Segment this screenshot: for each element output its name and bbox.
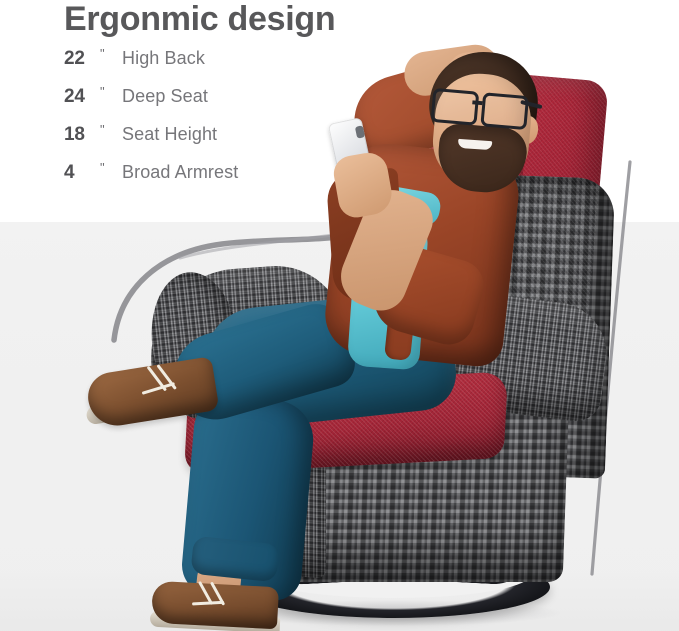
- spec-label: High Back: [122, 48, 205, 69]
- inch-symbol: ": [100, 84, 122, 99]
- spec-row-seat-height: 18 " Seat Height: [64, 124, 394, 162]
- spec-row-high-back: 22 " High Back: [64, 48, 394, 86]
- product-infographic-image: Ergonmic design 22 " High Back 24 " Deep…: [0, 0, 679, 631]
- spec-value: 24: [64, 86, 100, 108]
- spec-list: 22 " High Back 24 " Deep Seat 18 " Seat …: [64, 48, 394, 200]
- spec-value: 18: [64, 124, 100, 146]
- spec-label: Seat Height: [122, 124, 217, 145]
- eyeglass-lens-right: [480, 92, 529, 130]
- spec-row-deep-seat: 24 " Deep Seat: [64, 86, 394, 124]
- page-title: Ergonmic design: [64, 0, 335, 41]
- inch-symbol: ": [100, 46, 122, 61]
- spec-label: Broad Armrest: [122, 162, 238, 183]
- eyeglass-lens-left: [431, 88, 480, 126]
- eyeglass-bridge: [472, 100, 482, 104]
- lower-boat-shoe: [151, 581, 279, 630]
- spec-value: 22: [64, 48, 100, 70]
- spec-label: Deep Seat: [122, 86, 208, 107]
- spec-value: 4: [64, 162, 100, 184]
- shoe-lace: [192, 601, 224, 606]
- inch-symbol: ": [100, 160, 122, 175]
- inch-symbol: ": [100, 122, 122, 137]
- spec-row-broad-armrest: 4 " Broad Armrest: [64, 162, 394, 200]
